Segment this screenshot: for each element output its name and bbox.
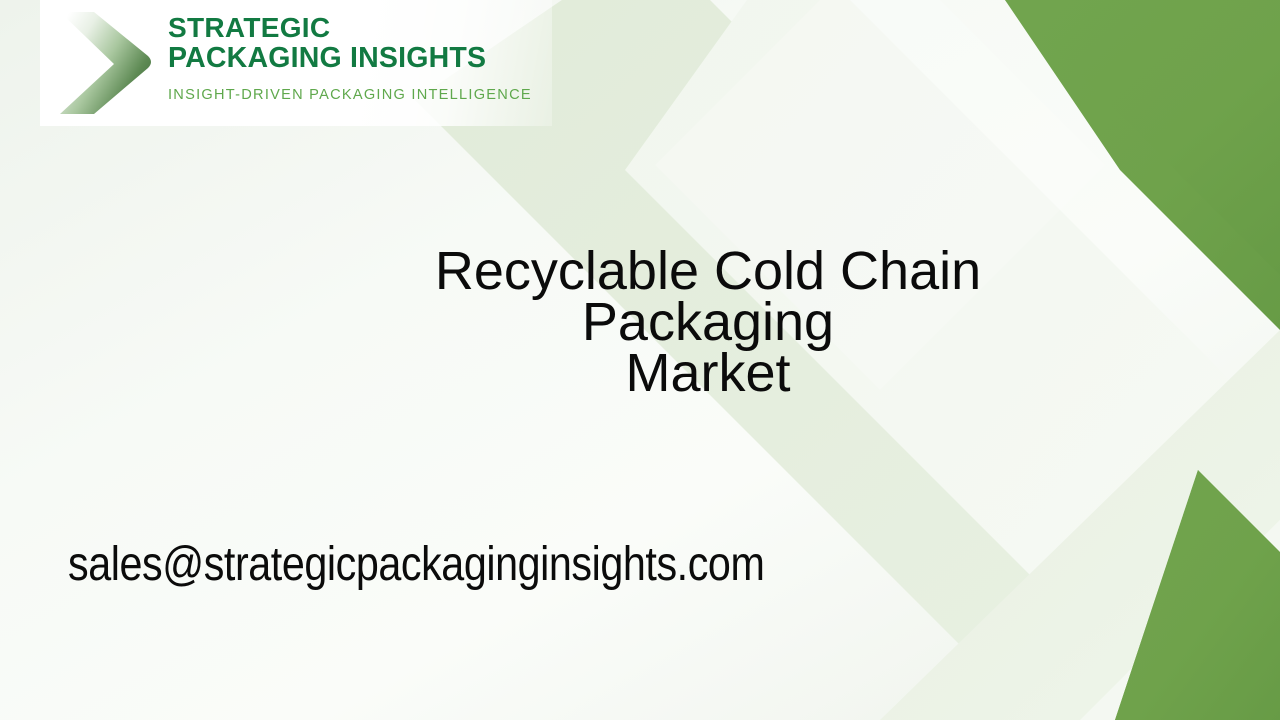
contact-email-text[interactable]: sales@strategicpackaginginsights.com xyxy=(68,536,764,594)
logo-wordmark-line2: PACKAGING INSIGHTS xyxy=(168,43,548,74)
page-title-line2: Packaging xyxy=(300,297,1116,348)
contact-email[interactable]: sales@strategicpackaginginsights.com xyxy=(68,536,878,594)
logo-tagline: INSIGHT-DRIVEN PACKAGING INTELLIGENCE xyxy=(168,87,548,103)
logo-wordmark: STRATEGIC PACKAGING INSIGHTS INSIGHT-DRI… xyxy=(168,12,548,103)
chevron-arrow-mark-icon xyxy=(48,6,160,120)
company-logo: STRATEGIC PACKAGING INSIGHTS INSIGHT-DRI… xyxy=(40,0,552,126)
title-slide: STRATEGIC PACKAGING INSIGHTS INSIGHT-DRI… xyxy=(0,0,1280,720)
page-title-line1: Recyclable Cold Chain xyxy=(300,246,1116,297)
page-title-line3: Market xyxy=(300,348,1116,399)
page-title: Recyclable Cold Chain Packaging Market xyxy=(300,246,1116,399)
logo-wordmark-line1: STRATEGIC xyxy=(168,12,548,43)
